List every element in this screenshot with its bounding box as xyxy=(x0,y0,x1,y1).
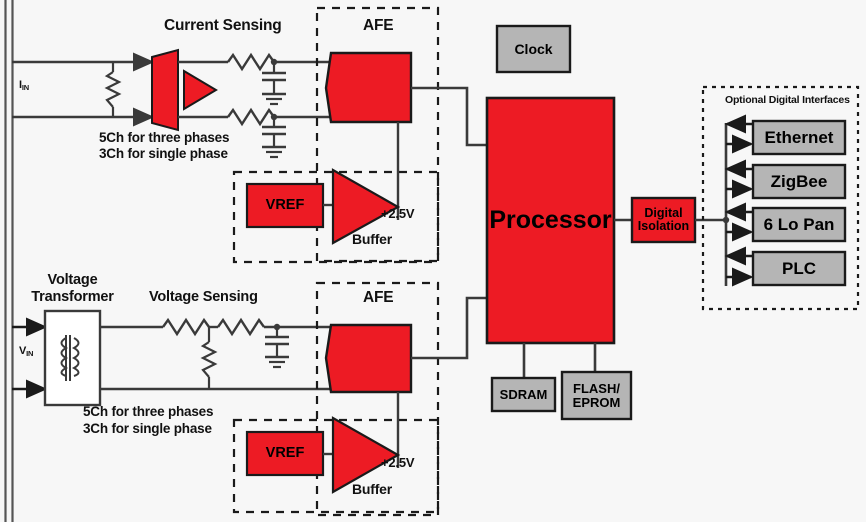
diagram-vector-layer xyxy=(0,0,866,522)
channels-bottom-line1: 5Ch for three phases xyxy=(83,404,213,420)
vref-top-block xyxy=(247,184,323,227)
interface-box-plc[interactable] xyxy=(753,252,845,285)
afe-top-to-processor-wire xyxy=(411,88,487,145)
processor-block xyxy=(487,98,614,343)
i-in-subscript: IN xyxy=(22,83,29,92)
current-sensing-wires xyxy=(12,62,152,117)
afe-top-block xyxy=(326,53,411,122)
mains-bus xyxy=(6,0,13,522)
channels-top-line1: 5Ch for three phases xyxy=(99,130,229,146)
current-sensing-label: Current Sensing xyxy=(164,17,282,35)
rail-bottom-label: +2.5V xyxy=(381,456,414,471)
channels-top-line2: 3Ch for single phase xyxy=(99,146,228,162)
v-in-subscript: IN xyxy=(26,349,33,358)
buffer-top-label: Buffer xyxy=(352,231,392,247)
afe-bottom-to-processor-wire xyxy=(411,298,487,358)
voltage-transformer-line2: Transformer xyxy=(13,289,132,306)
clock-block xyxy=(497,26,570,72)
rail-top-label: +2.5V xyxy=(381,207,414,222)
interface-arrows xyxy=(726,124,752,277)
voltage-sensing-wires xyxy=(100,320,330,389)
block-diagram-canvas: Current Sensing AFE IIN 5Ch for three ph… xyxy=(0,0,866,522)
afe-top-label: AFE xyxy=(363,17,393,35)
afe-bottom-label: AFE xyxy=(363,289,393,307)
buffer-bottom-label: Buffer xyxy=(352,481,392,497)
voltage-transformer-line1: Voltage xyxy=(45,272,100,289)
afe-bottom-block xyxy=(326,325,411,392)
v-in-label: VIN xyxy=(19,345,33,359)
flash-eprom-block xyxy=(562,372,631,419)
channels-bottom-line2: 3Ch for single phase xyxy=(83,421,212,437)
sdram-block xyxy=(492,378,555,411)
interface-box-ethernet[interactable] xyxy=(753,121,845,154)
isolation-bus-wires xyxy=(695,123,729,286)
interface-box-6lopan[interactable] xyxy=(753,208,845,241)
digital-isolation-block xyxy=(632,198,695,242)
interface-boxes xyxy=(753,121,845,285)
voltage-sensing-label: Voltage Sensing xyxy=(149,289,258,306)
i-in-label: IIN xyxy=(19,79,29,93)
vref-bottom-block xyxy=(247,432,323,475)
optional-interfaces-title: Optional Digital Interfaces xyxy=(725,94,850,106)
interface-box-zigbee[interactable] xyxy=(753,165,845,198)
